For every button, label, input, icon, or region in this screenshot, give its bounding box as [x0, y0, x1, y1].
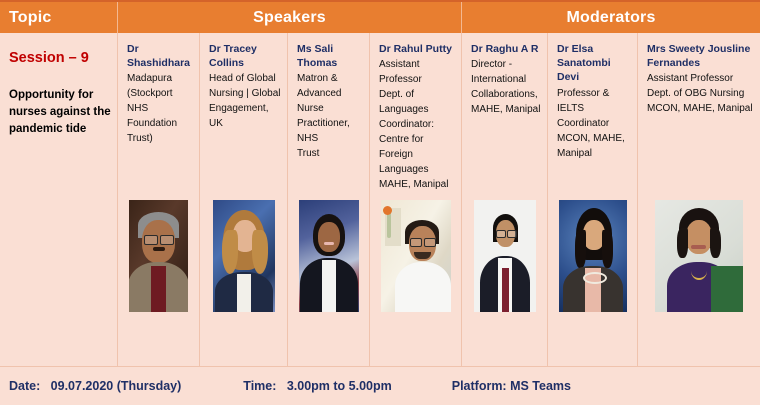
- speaker-role-3: Matron & Advanced Nurse Practitioner, NH…: [297, 71, 363, 161]
- speaker-photo-1: [129, 200, 188, 312]
- moderator-role-2: Professor & IELTS Coordinator MCON, MAHE…: [557, 86, 631, 161]
- speaker-photo-wrap-1: [118, 200, 199, 312]
- speaker-role-2: Head of Global Nursing | Global Engageme…: [209, 71, 281, 131]
- session-number: Session – 9: [9, 50, 111, 67]
- speaker-photo-wrap-4: [370, 200, 461, 312]
- session-description: Opportunity for nurses against the pande…: [9, 87, 111, 137]
- moderator-photo-3: [655, 200, 743, 312]
- column-header-speakers: Speakers: [118, 2, 462, 33]
- column-header-moderators-label: Moderators: [566, 9, 655, 27]
- moderator-cell-2: Dr Elsa Sanatombi Devi Professor & IELTS…: [548, 33, 638, 366]
- speaker-cell-3: Ms Sali Thomas Matron & Advanced Nurse P…: [288, 33, 370, 366]
- speaker-name-3: Ms Sali Thomas: [297, 42, 363, 70]
- footer-date: Date: 09.07.2020 (Thursday): [9, 379, 181, 393]
- footer-bar: Date: 09.07.2020 (Thursday) Time: 3.00pm…: [0, 366, 760, 405]
- speaker-photo-wrap-3: [288, 200, 369, 312]
- speaker-photo-4: [381, 200, 451, 312]
- footer-platform: Platform: MS Teams: [452, 379, 571, 393]
- speaker-name-2: Dr Tracey Collins: [209, 42, 281, 70]
- speaker-cell-1: Dr Shashidhara Madapura (Stockport NHS F…: [118, 33, 200, 366]
- column-header-moderators: Moderators: [462, 2, 760, 33]
- speaker-cell-4: Dr Rahul Putty Assistant Professor Dept.…: [370, 33, 462, 366]
- table-header-row: Topic Speakers Moderators: [0, 0, 760, 33]
- moderator-role-3: Assistant Professor Dept. of OBG Nursing…: [647, 71, 754, 116]
- footer-time: Time: 3.00pm to 5.00pm: [243, 379, 391, 393]
- moderator-photo-2: [559, 200, 627, 312]
- moderator-role-1: Director - International Collaborations,…: [471, 57, 541, 117]
- moderator-photo-wrap-1: [462, 200, 547, 312]
- speaker-photo-2: [213, 200, 275, 312]
- speaker-cell-2: Dr Tracey Collins Head of Global Nursing…: [200, 33, 288, 366]
- speaker-role-1: Madapura (Stockport NHS Foundation Trust…: [127, 71, 193, 146]
- column-header-topic: Topic: [0, 2, 118, 33]
- speaker-photo-wrap-2: [200, 200, 287, 312]
- column-header-speakers-label: Speakers: [253, 9, 326, 27]
- speaker-photo-3: [299, 200, 359, 312]
- moderator-cell-3: Mrs Sweety Jousline Fernandes Assistant …: [638, 33, 760, 366]
- column-header-topic-label: Topic: [9, 9, 51, 27]
- topic-cell: Session – 9 Opportunity for nurses again…: [0, 33, 118, 366]
- moderator-cell-1: Dr Raghu A R Director - International Co…: [462, 33, 548, 366]
- moderator-name-2: Dr Elsa Sanatombi Devi: [557, 42, 631, 85]
- speaker-name-1: Dr Shashidhara: [127, 42, 193, 70]
- moderator-name-3: Mrs Sweety Jousline Fernandes: [647, 42, 754, 70]
- table-body: Session – 9 Opportunity for nurses again…: [0, 33, 760, 366]
- speaker-role-4: Assistant Professor Dept. of Languages C…: [379, 57, 455, 192]
- event-schedule-poster: Topic Speakers Moderators Session – 9 Op…: [0, 0, 760, 405]
- speaker-name-4: Dr Rahul Putty: [379, 42, 455, 56]
- moderator-photo-wrap-3: [638, 200, 760, 312]
- moderator-photo-wrap-2: [548, 200, 637, 312]
- moderator-name-1: Dr Raghu A R: [471, 42, 541, 56]
- moderator-photo-1: [474, 200, 536, 312]
